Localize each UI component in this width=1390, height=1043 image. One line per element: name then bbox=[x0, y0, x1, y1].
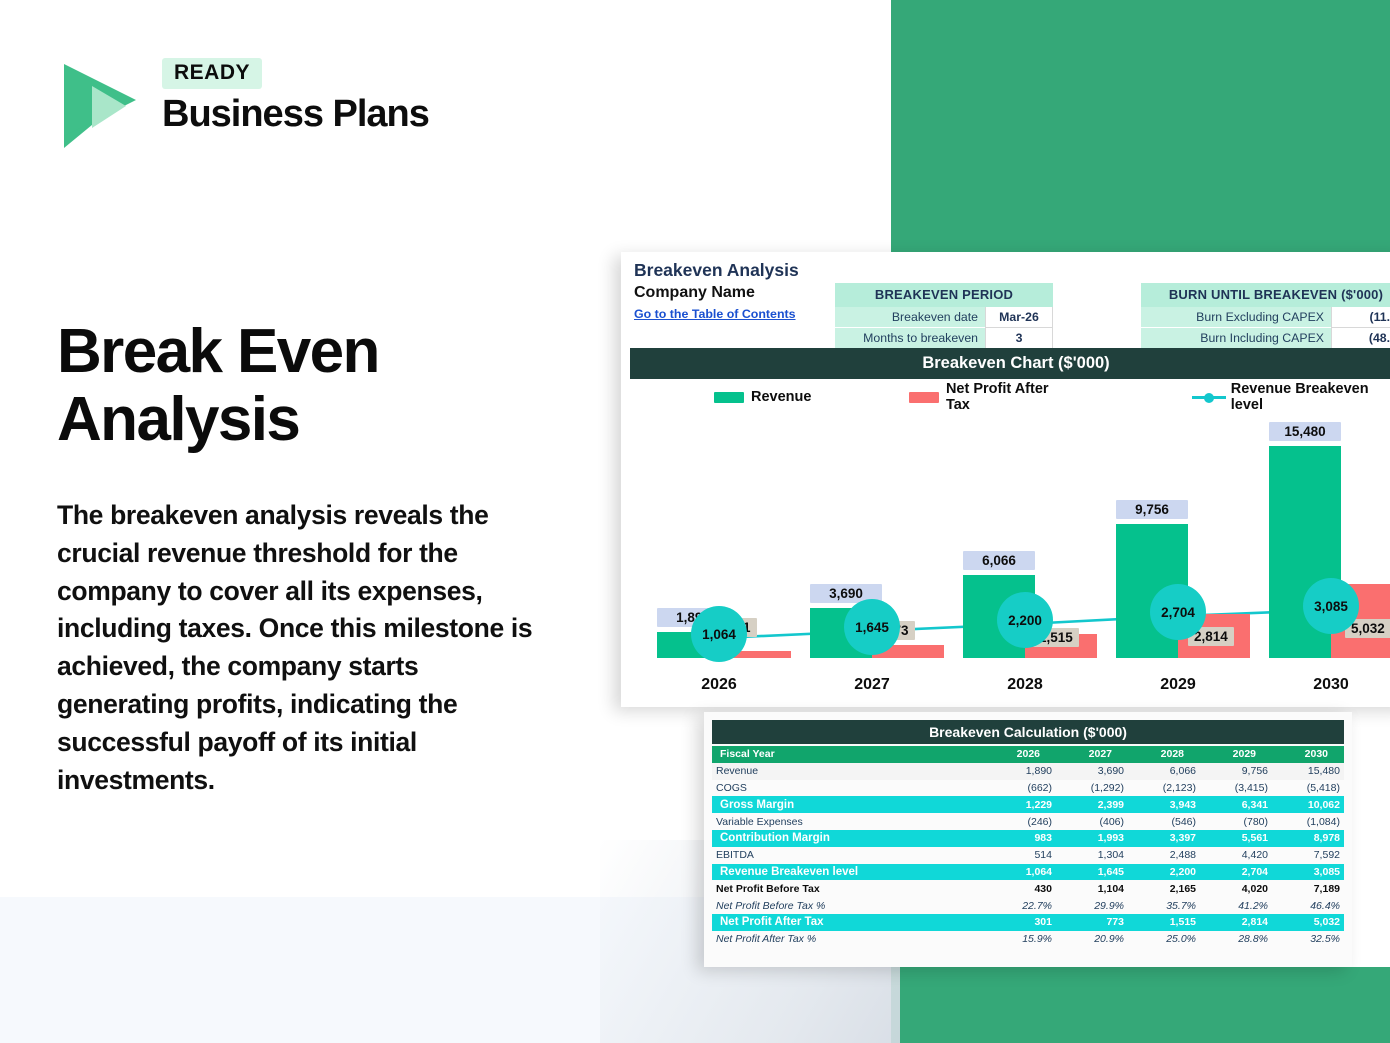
table-cell-2030: 3,085 bbox=[1272, 864, 1344, 881]
marker-label-2028: 2,200 bbox=[1008, 613, 1042, 628]
table-cell-2029: (780) bbox=[1200, 813, 1272, 830]
table-of-contents-link[interactable]: Go to the Table of Contents bbox=[634, 307, 796, 321]
kpi-breakeven-period-title: BREAKEVEN PERIOD bbox=[835, 283, 1053, 307]
table-cell-2026: 1,890 bbox=[984, 763, 1056, 780]
table-cell-2027: 773 bbox=[1056, 914, 1128, 931]
table-cell-2026: 1,229 bbox=[984, 796, 1056, 813]
table-cell-2026: 514 bbox=[984, 847, 1056, 864]
table-cell-2027: 3,690 bbox=[1056, 763, 1128, 780]
table-row: COGS(662)(1,292)(2,123)(3,415)(5,418) bbox=[712, 780, 1344, 797]
chart-banner-title: Breakeven Chart ($'000) bbox=[630, 348, 1390, 379]
legend-item-revenue: Revenue bbox=[714, 389, 811, 405]
table-banner-title: Breakeven Calculation ($'000) bbox=[712, 720, 1344, 744]
table-cell-2029: 5,561 bbox=[1200, 830, 1272, 847]
table-cell-2030: 7,189 bbox=[1272, 880, 1344, 897]
table-row-label: COGS bbox=[712, 780, 984, 797]
marker-label-2029: 2,704 bbox=[1161, 605, 1195, 620]
table-cell-2026: (246) bbox=[984, 813, 1056, 830]
table-cell-2028: 35.7% bbox=[1128, 897, 1200, 914]
table-cell-2026: (662) bbox=[984, 780, 1056, 797]
table-cell-2026: 430 bbox=[984, 880, 1056, 897]
brand-logo-text: READY Business Plans bbox=[162, 58, 492, 136]
legend-label-revenue: Revenue bbox=[751, 389, 811, 405]
table-cell-2028: 2,200 bbox=[1128, 864, 1200, 881]
x-axis-tick-2030: 2030 bbox=[1261, 676, 1390, 694]
table-header-2030: 2030 bbox=[1272, 746, 1344, 763]
table-cell-2028: 1,515 bbox=[1128, 914, 1200, 931]
page-description: The breakeven analysis reveals the cruci… bbox=[57, 497, 547, 799]
chart-legend: Revenue Net Profit After Tax Revenue Bre… bbox=[630, 386, 1390, 408]
kpi-row: Breakeven date Mar-26 bbox=[835, 307, 1053, 328]
table-cell-2030: 7,592 bbox=[1272, 847, 1344, 864]
legend-item-net-profit-after-tax: Net Profit After Tax bbox=[909, 381, 1074, 413]
chart-group-2026: 1,890 301 1,064 bbox=[649, 446, 789, 658]
marker-revenue-breakeven-level-2030[interactable]: 3,085 bbox=[1303, 578, 1359, 634]
table-cell-2029: 6,341 bbox=[1200, 796, 1272, 813]
table-header-2027: 2027 bbox=[1056, 746, 1128, 763]
sheet-title: Breakeven Analysis bbox=[634, 260, 799, 281]
table-cell-2027: 1,304 bbox=[1056, 847, 1128, 864]
table-cell-2030: (1,084) bbox=[1272, 813, 1344, 830]
kpi-burn-title: BURN UNTIL BREAKEVEN ($'000) bbox=[1141, 283, 1390, 307]
table-cell-2027: 1,104 bbox=[1056, 880, 1128, 897]
slide-root: READY Business Plans Break Even Analysis… bbox=[0, 0, 1390, 1043]
table-cell-2030: 46.4% bbox=[1272, 897, 1344, 914]
marker-revenue-breakeven-level-2027[interactable]: 1,645 bbox=[844, 599, 900, 655]
table-row: Contribution Margin9831,9933,3975,5618,9… bbox=[712, 830, 1344, 847]
decorative-green-panel-top bbox=[891, 0, 1390, 252]
table-row-label: Variable Expenses bbox=[712, 813, 984, 830]
table-cell-2029: 4,020 bbox=[1200, 880, 1272, 897]
table-cell-2027: 29.9% bbox=[1056, 897, 1128, 914]
kpi-label: Breakeven date bbox=[835, 307, 985, 328]
chart-plot-area: 1,890 301 1,064 3,690 773 1,645 bbox=[630, 420, 1390, 702]
table-row-label: Net Profit After Tax % bbox=[712, 931, 984, 948]
kpi-label: Months to breakeven bbox=[835, 328, 985, 349]
table-row-label: Net Profit After Tax bbox=[712, 914, 984, 931]
breakeven-calculation-table: Fiscal Year 2026 2027 2028 2029 2030 Rev… bbox=[712, 746, 1344, 948]
table-row: Revenue1,8903,6906,0669,75615,480 bbox=[712, 763, 1344, 780]
kpi-row: Burn Including CAPEX (48.5) bbox=[1141, 328, 1390, 349]
table-row: Net Profit Before Tax4301,1042,1654,0207… bbox=[712, 880, 1344, 897]
x-axis-tick-2029: 2029 bbox=[1108, 676, 1248, 694]
kpi-row: Months to breakeven 3 bbox=[835, 328, 1053, 349]
kpi-value: 3 bbox=[985, 328, 1053, 349]
kpi-value: Mar-26 bbox=[985, 307, 1053, 328]
brand-badge-ready: READY bbox=[162, 58, 262, 89]
play-triangle-logo-icon bbox=[58, 62, 140, 150]
legend-swatch-net-profit-after-tax bbox=[909, 392, 939, 403]
table-row: Variable Expenses(246)(406)(546)(780)(1,… bbox=[712, 813, 1344, 830]
table-row-label: Revenue bbox=[712, 763, 984, 780]
table-cell-2029: 4,420 bbox=[1200, 847, 1272, 864]
table-row: Net Profit Before Tax %22.7%29.9%35.7%41… bbox=[712, 897, 1344, 914]
bar-label-revenue-2029: 9,756 bbox=[1116, 500, 1188, 519]
table-cell-2030: 32.5% bbox=[1272, 931, 1344, 948]
table-cell-2030: 8,978 bbox=[1272, 830, 1344, 847]
table-row: Net Profit After Tax3017731,5152,8145,03… bbox=[712, 914, 1344, 931]
table-row-label: Contribution Margin bbox=[712, 830, 984, 847]
table-cell-2029: 28.8% bbox=[1200, 931, 1272, 948]
table-cell-2029: 2,814 bbox=[1200, 914, 1272, 931]
legend-swatch-revenue bbox=[714, 392, 744, 403]
kpi-label: Burn Excluding CAPEX bbox=[1141, 307, 1331, 328]
x-axis-tick-2026: 2026 bbox=[649, 676, 789, 694]
table-cell-2027: 1,993 bbox=[1056, 830, 1128, 847]
brand-logo: READY Business Plans bbox=[58, 58, 478, 158]
marker-label-2027: 1,645 bbox=[855, 620, 889, 635]
table-row: Gross Margin1,2292,3993,9436,34110,062 bbox=[712, 796, 1344, 813]
table-cell-2028: 6,066 bbox=[1128, 763, 1200, 780]
table-row: Revenue Breakeven level1,0641,6452,2002,… bbox=[712, 864, 1344, 881]
table-row-label: Net Profit Before Tax bbox=[712, 880, 984, 897]
marker-revenue-breakeven-level-2026[interactable]: 1,064 bbox=[691, 606, 747, 662]
legend-label-revenue-breakeven-level: Revenue Breakeven level bbox=[1231, 381, 1390, 413]
table-header-fiscal-year: Fiscal Year bbox=[712, 746, 984, 763]
brand-name: Business Plans bbox=[162, 93, 492, 136]
chart-group-2030: 15,480 5,032 3,085 bbox=[1261, 446, 1390, 658]
bar-label-revenue-2030: 15,480 bbox=[1269, 422, 1341, 441]
table-cell-2026: 301 bbox=[984, 914, 1056, 931]
table-cell-2028: (2,123) bbox=[1128, 780, 1200, 797]
table-cell-2028: 3,943 bbox=[1128, 796, 1200, 813]
legend-label-net-profit-after-tax: Net Profit After Tax bbox=[946, 381, 1074, 413]
bar-label-revenue-2028: 6,066 bbox=[963, 551, 1035, 570]
table-cell-2028: (546) bbox=[1128, 813, 1200, 830]
table-cell-2028: 25.0% bbox=[1128, 931, 1200, 948]
marker-revenue-breakeven-level-2028[interactable]: 2,200 bbox=[997, 592, 1053, 648]
table-cell-2030: 5,032 bbox=[1272, 914, 1344, 931]
table-cell-2030: 15,480 bbox=[1272, 763, 1344, 780]
marker-label-2030: 3,085 bbox=[1314, 599, 1348, 614]
table-header-2026: 2026 bbox=[984, 746, 1056, 763]
decorative-green-panel-bottom bbox=[891, 967, 1390, 1043]
table-cell-2029: (3,415) bbox=[1200, 780, 1272, 797]
sheet-company-name: Company Name bbox=[634, 284, 755, 302]
breakeven-chart-card: Breakeven Analysis Company Name Go to th… bbox=[621, 252, 1390, 707]
table-row-label: Net Profit Before Tax % bbox=[712, 897, 984, 914]
sheet-header: Breakeven Analysis Company Name Go to th… bbox=[621, 252, 1390, 340]
chart-group-2028: 6,066 1,515 2,200 bbox=[955, 446, 1095, 658]
table-cell-2026: 1,064 bbox=[984, 864, 1056, 881]
table-row-label: Gross Margin bbox=[712, 796, 984, 813]
table-cell-2027: (406) bbox=[1056, 813, 1128, 830]
table-cell-2027: 20.9% bbox=[1056, 931, 1128, 948]
table-header-row: Fiscal Year 2026 2027 2028 2029 2030 bbox=[712, 746, 1344, 763]
x-axis-tick-2027: 2027 bbox=[802, 676, 942, 694]
table-row: Net Profit After Tax %15.9%20.9%25.0%28.… bbox=[712, 931, 1344, 948]
table-cell-2026: 22.7% bbox=[984, 897, 1056, 914]
legend-item-revenue-breakeven-level: Revenue Breakeven level bbox=[1192, 381, 1390, 413]
table-cell-2029: 2,704 bbox=[1200, 864, 1272, 881]
table-row-label: Revenue Breakeven level bbox=[712, 864, 984, 881]
kpi-value: (11.0) bbox=[1331, 307, 1390, 328]
table-body: Revenue1,8903,6906,0669,75615,480COGS(66… bbox=[712, 763, 1344, 948]
x-axis-tick-2028: 2028 bbox=[955, 676, 1095, 694]
kpi-burn-until-breakeven: BURN UNTIL BREAKEVEN ($'000) Burn Exclud… bbox=[1141, 283, 1390, 349]
table-row: EBITDA5141,3042,4884,4207,592 bbox=[712, 847, 1344, 864]
table-header-2029: 2029 bbox=[1200, 746, 1272, 763]
chart-group-2029: 9,756 2,814 2,704 bbox=[1108, 446, 1248, 658]
table-cell-2027: 2,399 bbox=[1056, 796, 1128, 813]
kpi-label: Burn Including CAPEX bbox=[1141, 328, 1331, 349]
kpi-value: (48.5) bbox=[1331, 328, 1390, 349]
table-cell-2026: 15.9% bbox=[984, 931, 1056, 948]
chart-group-2027: 3,690 773 1,645 bbox=[802, 446, 942, 658]
table-header-2028: 2028 bbox=[1128, 746, 1200, 763]
legend-line-marker-icon bbox=[1192, 392, 1225, 403]
table-cell-2028: 2,165 bbox=[1128, 880, 1200, 897]
table-cell-2027: 1,645 bbox=[1056, 864, 1128, 881]
table-cell-2029: 9,756 bbox=[1200, 763, 1272, 780]
table-cell-2028: 2,488 bbox=[1128, 847, 1200, 864]
kpi-breakeven-period: BREAKEVEN PERIOD Breakeven date Mar-26 M… bbox=[835, 283, 1053, 349]
table-cell-2030: 10,062 bbox=[1272, 796, 1344, 813]
page-title: Break Even Analysis bbox=[57, 318, 577, 454]
table-row-label: EBITDA bbox=[712, 847, 984, 864]
table-cell-2029: 41.2% bbox=[1200, 897, 1272, 914]
table-cell-2027: (1,292) bbox=[1056, 780, 1128, 797]
table-cell-2030: (5,418) bbox=[1272, 780, 1344, 797]
breakeven-calculation-card: Breakeven Calculation ($'000) Fiscal Yea… bbox=[704, 712, 1352, 967]
marker-revenue-breakeven-level-2029[interactable]: 2,704 bbox=[1150, 584, 1206, 640]
marker-label-2026: 1,064 bbox=[702, 627, 736, 642]
table-cell-2028: 3,397 bbox=[1128, 830, 1200, 847]
kpi-row: Burn Excluding CAPEX (11.0) bbox=[1141, 307, 1390, 328]
table-cell-2026: 983 bbox=[984, 830, 1056, 847]
